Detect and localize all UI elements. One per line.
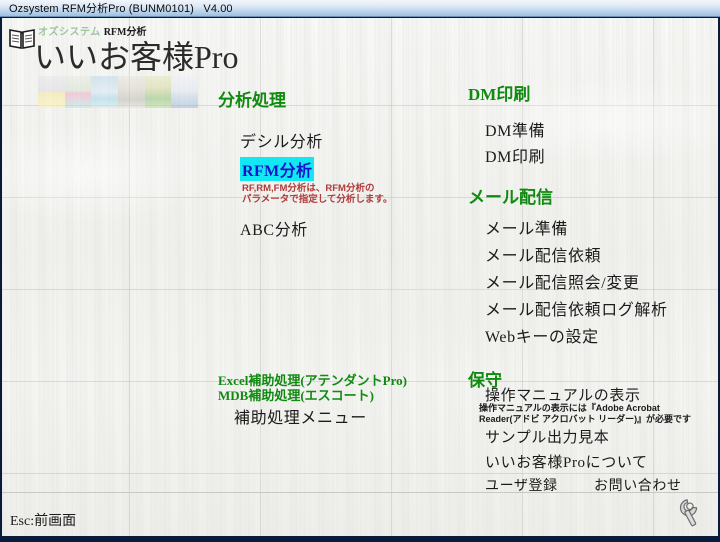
menu-item-show-manual[interactable]: 操作マニュアルの表示 (485, 384, 641, 405)
menu-item-abc-analysis[interactable]: ABC分析 (240, 216, 308, 240)
menu-item-mail-delivery-inquiry-change[interactable]: メール配信照会/変更 (485, 269, 639, 293)
page-title: いいお客様Pro (34, 32, 238, 78)
menu-item-decile-analysis[interactable]: デシル分析 (240, 128, 323, 152)
section-heading-mdb-helper: MDB補助処理(エスコート) (218, 388, 374, 403)
menu-item-about[interactable]: いいお客様Proについて (485, 451, 648, 472)
application-window: Ozsystem RFM分析Pro (BUNM0101) V4.00 (0, 0, 720, 542)
menu-item-helper-menu[interactable]: 補助処理メニュー (234, 404, 367, 428)
menu-item-dm-print[interactable]: DM印刷 (485, 143, 545, 167)
open-book-icon (8, 27, 36, 51)
photo-thumb (91, 76, 118, 108)
menu-item-web-key-settings[interactable]: Webキーの設定 (485, 323, 599, 347)
menu-item-mail-delivery-request[interactable]: メール配信依頼 (485, 242, 601, 266)
section-heading-mail-delivery: メール配信 (468, 183, 553, 208)
section-heading-dm-print: DM印刷 (468, 80, 530, 105)
section-heading-analysis: 分析処理 (218, 86, 286, 111)
photo-thumb (65, 76, 92, 108)
manual-requirement-note: 操作マニュアルの表示には『Adobe Acrobat Reader(アドビ アク… (479, 403, 691, 425)
client-area: オズシステムRFM分析 いいお客様Pro 分析処理 デシル分析 RFM分析 RF… (2, 18, 718, 536)
menu-item-rfm-analysis[interactable]: RFM分析 (240, 157, 314, 181)
wrench-icon[interactable] (672, 496, 706, 530)
window-title: Ozsystem RFM分析Pro (BUNM0101) V4.00 (0, 0, 233, 16)
menu-item-sample-output[interactable]: サンプル出力見本 (485, 426, 609, 447)
decorative-photo-strip (38, 76, 198, 108)
status-bar: Esc:前画面 (2, 492, 718, 536)
status-hint-esc: Esc:前画面 (10, 510, 76, 530)
menu-item-mail-prepare[interactable]: メール準備 (485, 215, 568, 239)
section-heading-excel-helper: Excel補助処理(アテンダントPro) (218, 373, 407, 388)
photo-thumb (38, 76, 65, 108)
photo-thumb (171, 76, 198, 108)
window-titlebar: Ozsystem RFM分析Pro (BUNM0101) V4.00 (0, 0, 720, 17)
photo-thumb (118, 76, 145, 108)
menu-item-dm-prepare[interactable]: DM準備 (485, 117, 545, 141)
rfm-analysis-description: RF,RM,FM分析は、RFM分析の パラメータで指定して分析します。 (242, 183, 392, 205)
photo-thumb (145, 76, 172, 108)
menu-item-mail-delivery-log-analysis[interactable]: メール配信依頼ログ解析 (485, 296, 668, 320)
